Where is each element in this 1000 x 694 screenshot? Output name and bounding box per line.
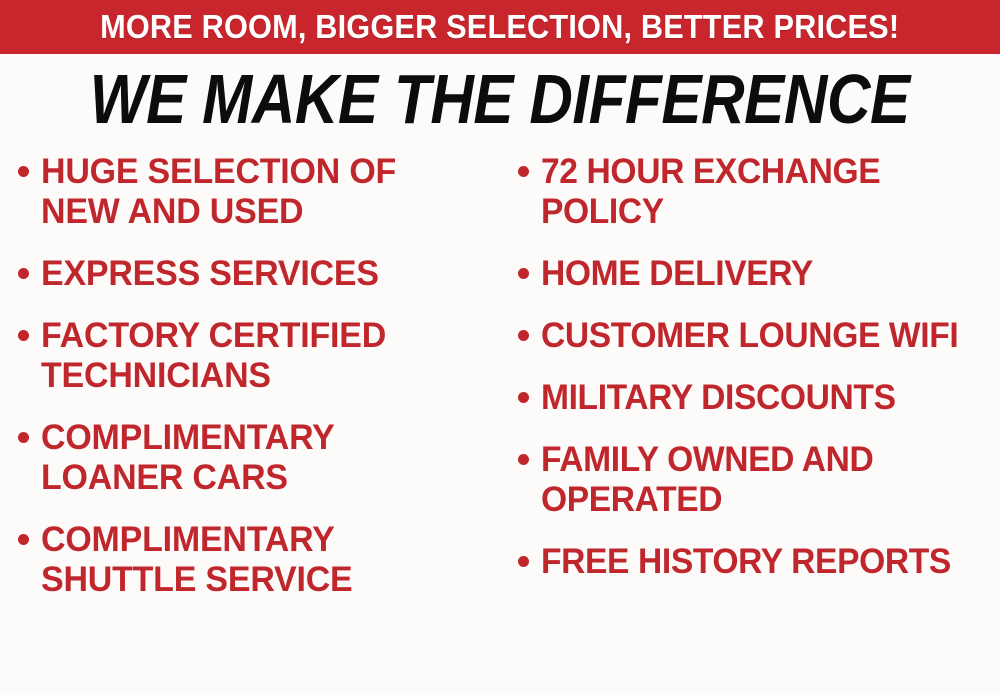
- list-item: FACTORY CERTIFIED TECHNICIANS: [18, 316, 496, 396]
- bullet-dot-icon: [18, 534, 29, 545]
- list-item: FAMILY OWNED AND OPERATED: [518, 440, 998, 520]
- list-item: COMPLIMENTARY LOANER CARS: [18, 418, 496, 498]
- benefit-label: HUGE SELECTION OF NEW AND USED: [41, 152, 482, 232]
- main-headline: WE MAKE THE DIFFERENCE: [90, 63, 910, 135]
- benefit-label: 72 HOUR EXCHANGE POLICY: [541, 152, 980, 232]
- bullet-dot-icon: [518, 268, 529, 279]
- benefit-label: FREE HISTORY REPORTS: [541, 542, 951, 582]
- benefit-label: MILITARY DISCOUNTS: [541, 378, 896, 418]
- list-item: CUSTOMER LOUNGE WIFI: [518, 316, 998, 356]
- benefits-column-left: HUGE SELECTION OF NEW AND USED EXPRESS S…: [0, 152, 500, 622]
- list-item: 72 HOUR EXCHANGE POLICY: [518, 152, 998, 232]
- bullet-dot-icon: [18, 432, 29, 443]
- bullet-dot-icon: [518, 392, 529, 403]
- main-headline-container: WE MAKE THE DIFFERENCE: [0, 60, 1000, 138]
- benefit-label: COMPLIMENTARY SHUTTLE SERVICE: [41, 520, 482, 600]
- list-item: EXPRESS SERVICES: [18, 254, 496, 294]
- banner-headline-text: MORE ROOM, BIGGER SELECTION, BETTER PRIC…: [100, 10, 899, 44]
- bullet-dot-icon: [18, 330, 29, 341]
- benefit-label: HOME DELIVERY: [541, 254, 813, 294]
- bullet-dot-icon: [18, 268, 29, 279]
- bullet-dot-icon: [518, 330, 529, 341]
- list-item: FREE HISTORY REPORTS: [518, 542, 998, 582]
- advertisement-graphic: MORE ROOM, BIGGER SELECTION, BETTER PRIC…: [0, 0, 1000, 694]
- bullet-dot-icon: [18, 166, 29, 177]
- benefit-label: CUSTOMER LOUNGE WIFI: [541, 316, 958, 356]
- list-item: COMPLIMENTARY SHUTTLE SERVICE: [18, 520, 496, 600]
- top-banner: MORE ROOM, BIGGER SELECTION, BETTER PRIC…: [0, 0, 1000, 54]
- benefit-label: FAMILY OWNED AND OPERATED: [541, 440, 980, 520]
- benefit-label: COMPLIMENTARY LOANER CARS: [41, 418, 482, 498]
- benefits-columns: HUGE SELECTION OF NEW AND USED EXPRESS S…: [0, 152, 1000, 694]
- bullet-dot-icon: [518, 166, 529, 177]
- list-item: HUGE SELECTION OF NEW AND USED: [18, 152, 496, 232]
- bullet-dot-icon: [518, 454, 529, 465]
- benefit-label: FACTORY CERTIFIED TECHNICIANS: [41, 316, 482, 396]
- bullet-dot-icon: [518, 556, 529, 567]
- list-item: MILITARY DISCOUNTS: [518, 378, 998, 418]
- list-item: HOME DELIVERY: [518, 254, 998, 294]
- benefit-label: EXPRESS SERVICES: [41, 254, 379, 294]
- benefits-column-right: 72 HOUR EXCHANGE POLICY HOME DELIVERY CU…: [500, 152, 1000, 604]
